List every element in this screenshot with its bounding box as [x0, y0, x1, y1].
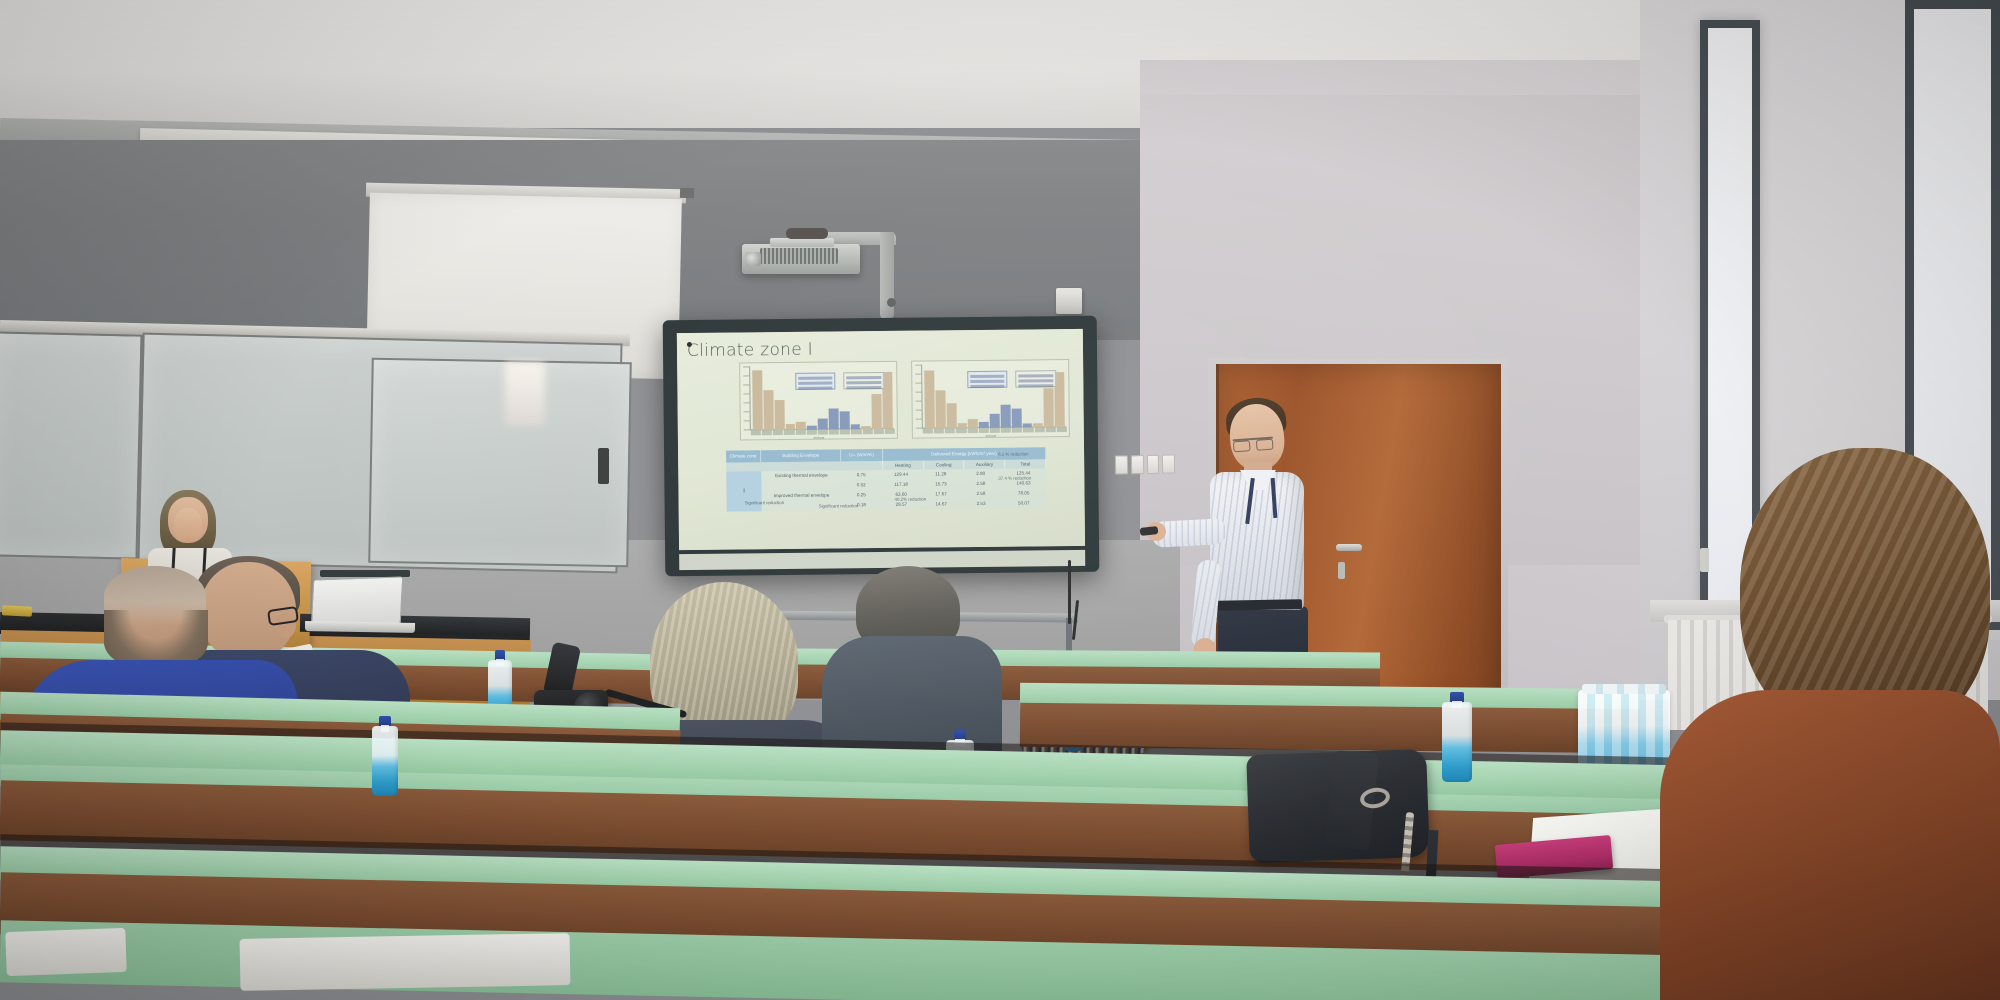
projector-mount-bolt: [887, 298, 896, 307]
td-cooling: 11.28: [921, 472, 961, 477]
water-bottle[interactable]: [1442, 692, 1472, 782]
annotation-note-1: Significant reduction: [745, 500, 785, 506]
projector-lens: [745, 252, 761, 266]
td-u: 0.75: [841, 473, 881, 478]
chart-left-y-axis: [749, 366, 751, 430]
projector-top-panel: [770, 238, 834, 247]
light-switch-panel[interactable]: [1115, 454, 1175, 474]
window-left-glass: [1708, 28, 1752, 622]
td-auxiliary: 2.58: [961, 481, 1001, 486]
td-auxiliary: 2.53: [961, 501, 1001, 506]
seat-back-left: [5, 928, 126, 976]
cable: [1068, 560, 1071, 624]
td-total: 50.07: [1001, 501, 1047, 506]
chart-left-legend-a: [795, 372, 836, 389]
td-heating: 29.57: [881, 502, 921, 507]
chart-left-x-title: end use: [741, 435, 897, 441]
projection-screen-pull-tab[interactable]: [680, 188, 694, 198]
td-cooling: 15.73: [921, 482, 961, 487]
water-bottle-pack-caps: [1582, 684, 1666, 694]
window-left-handle[interactable]: [1700, 548, 1709, 572]
projector-vent-grille: [760, 248, 838, 264]
th-u-value: Uₘ (W/m²K): [841, 449, 883, 461]
td-total: 140.63: [1001, 481, 1047, 486]
attendee-at-front-desk-face: [174, 508, 202, 542]
whiteboard-lower[interactable]: [368, 358, 632, 568]
lecture-hall-photo: Climate zone I: [0, 0, 2000, 1000]
td-auxiliary: 2.80: [961, 471, 1001, 476]
yellow-desk-object[interactable]: [2, 605, 32, 617]
th-cooling: Cooling: [924, 460, 965, 469]
light-switch-1[interactable]: [1115, 455, 1128, 474]
td-auxiliary: 2.58: [961, 491, 1001, 496]
td-envelope: Existing thermal envelope: [761, 473, 841, 478]
chart-left-legend-b: [843, 372, 884, 389]
annotation-note-3: 40.2% reduction: [895, 497, 927, 503]
seat-back-center: [240, 933, 571, 991]
presenter-shirt: [1210, 472, 1304, 610]
slide-results-table: Climate zone Building Envelope Uₘ (W/m²K…: [726, 447, 1047, 511]
whiteboard-marker-holder[interactable]: [598, 448, 609, 484]
chart-right-x-title: end use: [913, 433, 1069, 439]
td-envelope: [762, 485, 842, 486]
th-heating: Heating: [883, 461, 924, 470]
laptop-screen[interactable]: [311, 576, 403, 627]
td-total: 78.05: [1001, 491, 1047, 496]
td-cooling: 14.67: [921, 502, 961, 507]
wall-display[interactable]: Climate zone I: [663, 316, 1100, 577]
presenter-belt: [1216, 599, 1302, 610]
td-envelope: Improved thermal envelope: [762, 493, 842, 498]
td-heating: 117.18: [881, 482, 921, 487]
attendee-rust-jacket-torso: [1660, 690, 2000, 1000]
light-switch-4[interactable]: [1162, 454, 1175, 473]
slide-charts: end use: [739, 359, 1070, 440]
bar-chart-left: end use: [739, 361, 898, 441]
annotation-note-2: Significant reduction: [819, 503, 859, 509]
display-panel: Climate zone I: [677, 329, 1085, 550]
display-bezel-bottom: [679, 550, 1085, 570]
presentation-slide: Climate zone I: [677, 329, 1085, 550]
door-lock-icon[interactable]: [1338, 562, 1345, 579]
chart-right-legend-a: [967, 371, 1008, 388]
td-cooling: 17.67: [921, 492, 961, 497]
glasses-icon: [1233, 437, 1274, 449]
projector-focus-knob[interactable]: [786, 228, 828, 239]
th-auxiliary: Auxiliary: [965, 460, 1006, 469]
annotation-reduction-2: 37.4 % reduction: [998, 475, 1031, 481]
whiteboard-glare: [505, 362, 545, 426]
chart-right-y-axis: [921, 365, 923, 429]
th-climate-zone: Climate zone: [726, 450, 761, 462]
light-switch-2[interactable]: [1131, 455, 1144, 474]
slide-title: Climate zone I: [687, 337, 1073, 361]
th-total: Total: [1005, 459, 1046, 468]
chart-right-legend-b: [1015, 370, 1056, 387]
td-heating: 129.44: [881, 472, 921, 477]
water-bottle[interactable]: [372, 716, 398, 796]
door-handle[interactable]: [1336, 544, 1362, 551]
laptop-keyboard[interactable]: [305, 621, 415, 633]
light-switch-3[interactable]: [1146, 455, 1159, 474]
td-u: 0.52: [841, 483, 881, 488]
display-power-led: [687, 342, 692, 347]
td-u: 0.25: [841, 493, 881, 498]
wall-sensor-box: [1056, 288, 1082, 314]
whiteboard-left[interactable]: [0, 331, 143, 559]
th-building-envelope: Building Envelope: [761, 449, 841, 462]
annotation-reduction-1: 8.1 % reduction: [998, 451, 1029, 457]
bar-chart-right: end use: [911, 359, 1070, 439]
